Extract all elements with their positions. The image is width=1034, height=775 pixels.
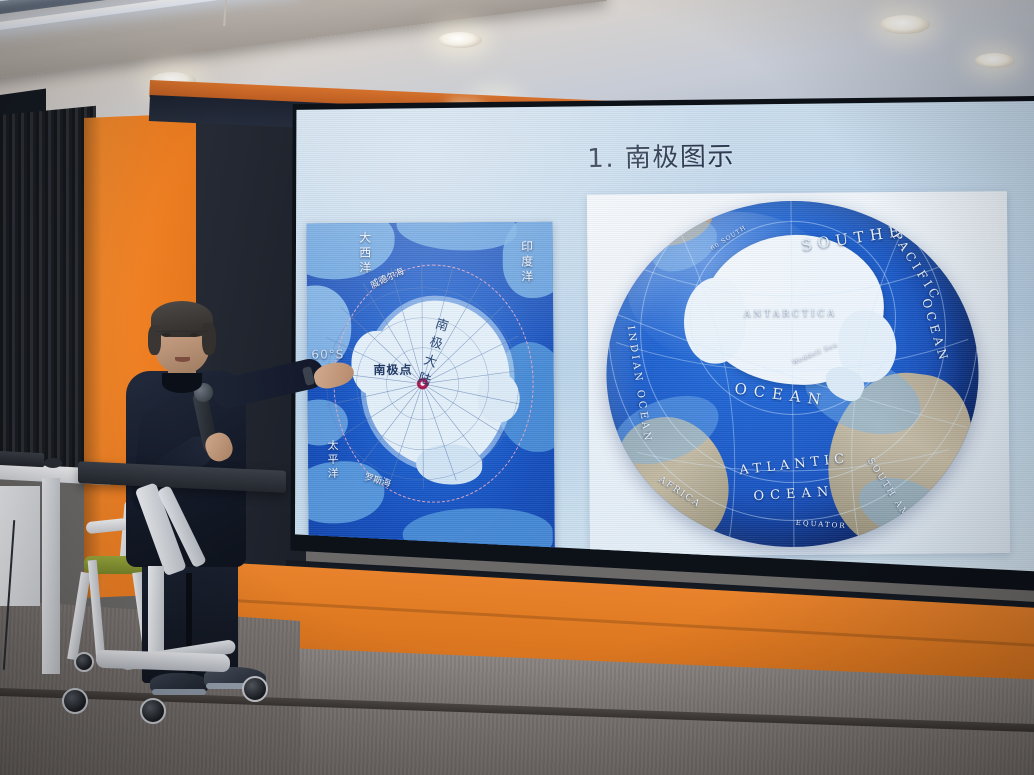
presentation-slide: 1. 南极图示 xyxy=(292,99,1034,591)
globe-label-antarctica: ANTARCTICA xyxy=(744,309,837,320)
caster-wheel-2-icon xyxy=(140,698,166,724)
presenter-mouth xyxy=(175,357,190,362)
projection-screen: 1. 南极图示 xyxy=(292,99,1034,591)
presenter-eye-right xyxy=(190,333,199,337)
caster-wheel-4-icon xyxy=(74,652,94,672)
slide-title: 1. 南极图示 xyxy=(292,131,1033,180)
map-ocean-label-pacific: 太平洋 xyxy=(324,439,340,481)
mouse[interactable] xyxy=(44,458,62,468)
globe-card: SOUTHERNOCEANPACIFICOCEANINDIAN OCEANATL… xyxy=(587,191,1010,557)
caster-wheel-icon xyxy=(62,688,88,714)
lecture-hall-photo: 1. 南极图示 xyxy=(0,0,1034,775)
side-table-leg xyxy=(42,478,60,674)
downlight-2-icon xyxy=(438,32,482,48)
downlight-5-icon xyxy=(975,53,1015,68)
side-table-panel xyxy=(0,486,40,606)
presenter-collar xyxy=(162,373,202,393)
presenter-eye-left xyxy=(162,333,171,337)
map-ocean-label-indian: 印度洋 xyxy=(519,240,536,285)
acoustic-slat-wall xyxy=(0,106,96,475)
antarctic-polar-map: 南极点 南极大陆 60°S 大西洋 印度洋 太平洋 威德尔海 罗斯海 xyxy=(306,222,554,554)
presenter-shoe-sole xyxy=(152,689,206,695)
antarctic-globe: SOUTHERNOCEANPACIFICOCEANINDIAN OCEANATL… xyxy=(605,199,980,548)
caster-wheel-3-icon xyxy=(242,676,268,702)
lectern-column xyxy=(148,566,164,658)
map-south-pole-label: 南极点 xyxy=(373,361,412,378)
map-60s-latitude-circle xyxy=(333,264,535,503)
laptop[interactable] xyxy=(0,451,44,468)
map-ocean-label-atlantic: 大西洋 xyxy=(357,231,374,276)
downlight-3-icon xyxy=(880,15,930,34)
